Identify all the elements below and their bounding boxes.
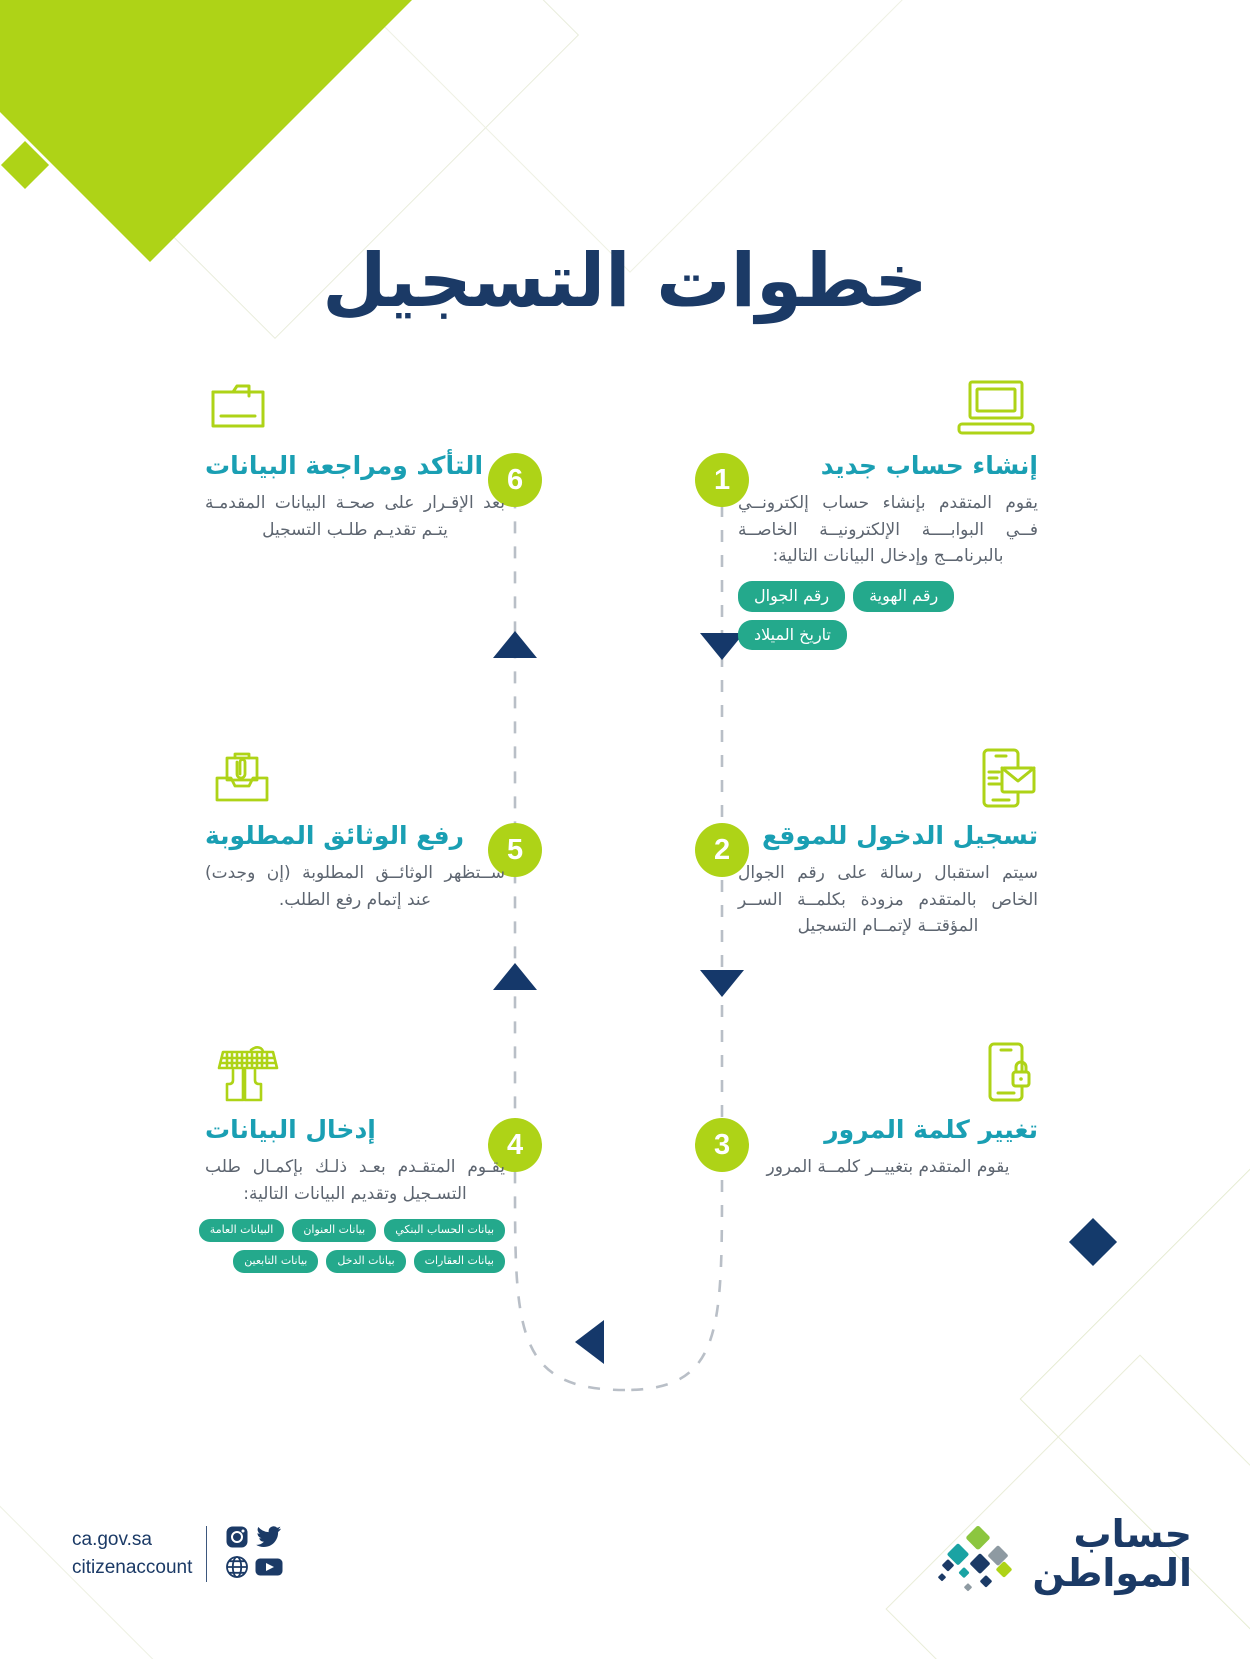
globe-icon[interactable] xyxy=(225,1555,249,1583)
step-title-6: التأكد ومراجعة البيانات xyxy=(205,450,505,481)
tag-row: بيانات العقارات بيانات الدخل بيانات التا… xyxy=(205,1250,505,1273)
phone-lock-icon xyxy=(738,1042,1038,1104)
step-desc-3: يقوم المتقدم بتغييــر كلمــة المرور xyxy=(738,1154,1038,1180)
step-card-1: إنشاء حساب جديد يقوم المتقدم بإنشاء حساب… xyxy=(738,378,1038,658)
infographic-poster: خطوات التسجيل 1 2 3 4 5 6 إنشاء حساب جدي… xyxy=(0,0,1250,1659)
step-desc-2: سيتم استقبال رسالة على رقم الجوال الخاص … xyxy=(738,860,1038,939)
arrow-left-icon xyxy=(575,1320,604,1364)
brand-logo: حساب المواطن xyxy=(934,1511,1192,1597)
step-card-4: إدخال البيانات يقـوم المتقـدم بعـد ذلـك … xyxy=(205,1042,505,1281)
step-card-6: التأكد ومراجعة البيانات بعد الإقـرار على… xyxy=(205,378,505,543)
twitter-icon[interactable] xyxy=(256,1526,282,1552)
step-title-3: تغيير كلمة المرور xyxy=(738,1114,1038,1145)
step-desc-4: يقـوم المتقـدم بعـد ذلـك بإكمـال طلب الت… xyxy=(205,1154,505,1207)
step-title-1: إنشاء حساب جديد xyxy=(738,450,1038,481)
step-card-3: تغيير كلمة المرور يقوم المتقدم بتغييــر … xyxy=(738,1042,1038,1181)
footer-handles: ca.gov.sa citizenaccount xyxy=(72,1526,192,1581)
tag-chip[interactable]: بيانات العنوان xyxy=(292,1219,376,1242)
step-desc-1: يقوم المتقدم بإنشاء حساب إلكترونــي فــي… xyxy=(738,490,1038,569)
brand-line-1: حساب xyxy=(1032,1515,1192,1554)
flow-connector xyxy=(0,0,1250,1659)
footer-divider xyxy=(206,1526,207,1582)
tag-chip[interactable]: تاريخ الميلاد xyxy=(738,620,847,651)
arrow-up-icon xyxy=(493,631,537,658)
diamond-cluster-logo xyxy=(934,1511,1022,1597)
tag-row: بيانات الحساب البنكي بيانات العنوان البي… xyxy=(205,1219,505,1242)
tag-chip[interactable]: رقم الجوال xyxy=(738,581,845,612)
step-title-5: رفع الوثائق المطلوبة xyxy=(205,820,505,851)
tag-chip[interactable]: البيانات العامة xyxy=(199,1219,285,1242)
tag-row: رقم الهوية رقم الجوال xyxy=(738,581,1038,612)
brand-line-2: المواطن xyxy=(1032,1554,1192,1593)
step-desc-5: ســتظهر الوثائــق المطلوبة (إن وجدت) عند… xyxy=(205,860,505,913)
tag-row: تاريخ الميلاد xyxy=(738,620,1038,651)
folder-icon xyxy=(205,378,505,440)
tag-chip[interactable]: رقم الهوية xyxy=(853,581,954,612)
step-desc-6: بعد الإقـرار على صحـة البيانات المقدمـة … xyxy=(205,490,505,543)
step-title-4: إدخال البيانات xyxy=(205,1114,505,1145)
youtube-icon[interactable] xyxy=(255,1557,283,1581)
step-title-2: تسجيل الدخول للموقع xyxy=(738,820,1038,851)
arrow-up-icon xyxy=(493,963,537,990)
footer-handle[interactable]: citizenaccount xyxy=(72,1554,192,1582)
tag-chip[interactable]: بيانات العقارات xyxy=(414,1250,505,1273)
step-4-tag-list: بيانات الحساب البنكي بيانات العنوان البي… xyxy=(205,1219,505,1273)
footer-contact-block: ca.gov.sa citizenaccount xyxy=(72,1524,285,1584)
tag-chip[interactable]: بيانات الحساب البنكي xyxy=(384,1219,505,1242)
laptop-icon xyxy=(738,378,1038,440)
brand-wordmark: حساب المواطن xyxy=(1032,1515,1192,1593)
instagram-icon[interactable] xyxy=(225,1525,249,1553)
footer-website[interactable]: ca.gov.sa xyxy=(72,1526,192,1554)
step-card-2: تسجيل الدخول للموقع سيتم استقبال رسالة ع… xyxy=(738,748,1038,939)
tag-chip[interactable]: بيانات الدخل xyxy=(326,1250,405,1273)
step-1-tag-list: رقم الهوية رقم الجوال تاريخ الميلاد xyxy=(738,581,1038,650)
step-card-5: رفع الوثائق المطلوبة ســتظهر الوثائــق ا… xyxy=(205,748,505,913)
keyboard-hands-icon xyxy=(205,1042,505,1104)
social-icon-grid xyxy=(221,1524,285,1584)
phone-message-icon xyxy=(738,748,1038,810)
tag-chip[interactable]: بيانات التابعين xyxy=(233,1250,318,1273)
document-tray-icon xyxy=(205,748,505,810)
arrow-down-icon xyxy=(700,970,744,997)
